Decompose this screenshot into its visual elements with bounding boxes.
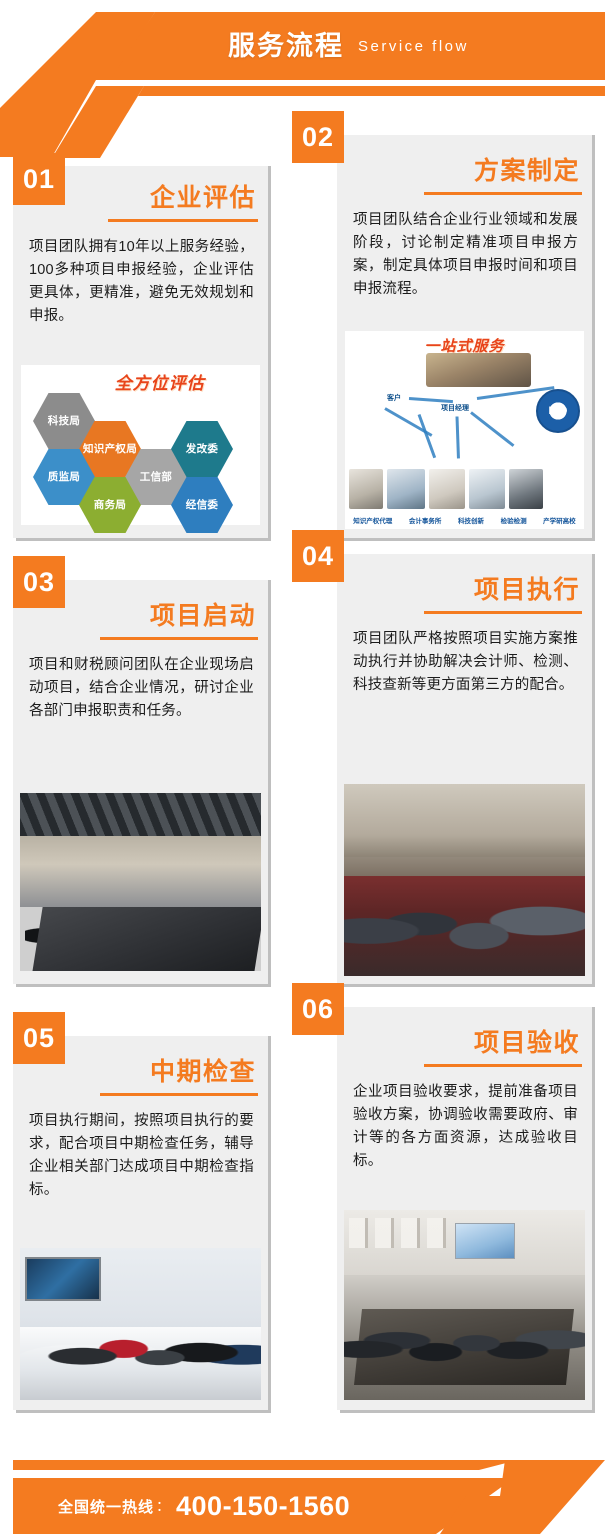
card-05-body: 项目执行期间，按照项目执行的要求，配合项目中期检查任务，辅导企业相关部门达成项目… xyxy=(13,1096,268,1215)
card-02-body: 项目团队结合企业行业领域和发展阶段，讨论制定精准项目申报方案，制定具体项目申报时… xyxy=(337,195,592,314)
card-03-number-badge: 03 xyxy=(13,556,65,608)
card-06-title: 项目验收 xyxy=(337,1029,592,1058)
oss-foot-label: 科技创新 xyxy=(458,515,484,525)
photo-counter xyxy=(20,1345,160,1397)
oss-foot-label: 产学研高校 xyxy=(543,515,576,525)
card-03-body: 项目和财税顾问团队在企业现场启动项目，结合企业情况，研讨企业各部门申报职责和任务… xyxy=(13,640,268,736)
oss-foot-label: 检验检测 xyxy=(501,515,527,525)
card-02-title: 方案制定 xyxy=(337,157,592,186)
card-04-number-badge: 04 xyxy=(292,530,344,582)
photo-table xyxy=(344,908,585,971)
photo-people xyxy=(344,1301,585,1388)
card-02-number-badge: 02 xyxy=(292,111,344,163)
oss-thumb-4 xyxy=(469,469,505,509)
hex-diagram-title: 全方位评估 xyxy=(115,369,205,394)
card-05-number-badge: 05 xyxy=(13,1012,65,1064)
hex-node-label: 经信委 xyxy=(186,499,218,511)
footer-phone-number[interactable]: 400-150-1560 xyxy=(176,1491,350,1522)
oss-arrow-1 xyxy=(409,397,453,403)
showroom-visit-photo xyxy=(20,1248,261,1400)
header-title-group: 服务流程 Service flow xyxy=(0,12,605,80)
page-title: 服务流程 xyxy=(228,33,344,60)
photo-table xyxy=(33,889,261,971)
oss-center-photo xyxy=(426,353,531,387)
hex-node-label: 商务局 xyxy=(94,499,126,511)
oss-thumb-2 xyxy=(387,469,425,509)
card-01[interactable]: 企业评估 项目团队拥有10年以上服务经验，100多种项目申报经验，企业评估更具体… xyxy=(13,166,268,538)
footer-hotline: 全国统一热线 ： 400-150-1560 xyxy=(58,1478,350,1534)
card-06-body: 企业项目验收要求，提前准备项目验收方案，协调验收需要政府、审计等的各方面资源，达… xyxy=(337,1067,592,1186)
hex-node-label: 质监局 xyxy=(48,471,80,483)
oss-arrow-5 xyxy=(470,411,514,447)
oss-foot-label: 会计事务所 xyxy=(409,515,442,525)
oss-manager-label: 项目经理 xyxy=(441,403,469,413)
hex-node-label: 工信部 xyxy=(140,471,172,483)
boardroom-photo xyxy=(344,1210,585,1400)
card-02[interactable]: 方案制定 项目团队结合企业行业领域和发展阶段，讨论制定精准项目申报方案，制定具体… xyxy=(337,135,592,538)
card-03[interactable]: 项目启动 项目和财税顾问团队在企业现场启动项目，结合企业情况，研讨企业各部门申报… xyxy=(13,580,268,984)
card-06[interactable]: 项目验收 企业项目验收要求，提前准备项目验收方案，协调验收需要政府、审计等的各方… xyxy=(337,1007,592,1410)
oss-thumb-3 xyxy=(429,469,465,509)
oss-arrow-4 xyxy=(456,416,460,458)
card-01-body: 项目团队拥有10年以上服务经验，100多种项目申报经验，企业评估更具体，更精准，… xyxy=(13,222,268,341)
page-footer: 全国统一热线 ： 400-150-1560 xyxy=(0,1420,605,1538)
oss-foot-label: 知识产权代理 xyxy=(353,515,392,525)
hex-node-label: 知识产权局 xyxy=(83,443,137,455)
one-stop-service-diagram: 一站式服务 客户 项目经理 ISO 知识产权代理 会计事务所 科技创新 检验检测… xyxy=(345,331,584,529)
photo-projector-screen xyxy=(455,1223,515,1259)
service-flow-infographic: 服务流程 Service flow 企业评估 项目团队拥有10年以上服务经验，1… xyxy=(0,0,605,1538)
footer-hotline-label: 全国统一热线 xyxy=(58,1496,154,1517)
conference-room-photo xyxy=(20,793,261,971)
photo-wall-frames xyxy=(349,1218,450,1248)
card-05[interactable]: 中期检查 项目执行期间，按照项目执行的要求，配合项目中期检查任务，辅导企业相关部… xyxy=(13,1036,268,1410)
card-04-body: 项目团队严格按照项目实施方案推动执行并协助解决会计师、检测、科技查新等更方面第三… xyxy=(337,614,592,710)
oss-client-label: 客户 xyxy=(387,393,401,403)
hex-node-label: 发改委 xyxy=(186,443,218,455)
page-subtitle: Service flow xyxy=(358,38,469,55)
card-06-number-badge: 06 xyxy=(292,983,344,1035)
oss-thumb-5 xyxy=(509,469,543,509)
footer-colon: ： xyxy=(156,1496,170,1516)
card-04[interactable]: 项目执行 项目团队严格按照项目实施方案推动执行并协助解决会计师、检测、科技查新等… xyxy=(337,554,592,984)
hex-node-label: 科技局 xyxy=(48,415,80,427)
oss-arrow-3 xyxy=(418,414,437,458)
card-04-title: 项目执行 xyxy=(337,576,592,605)
oss-iso-badge: ISO xyxy=(536,389,580,433)
card-01-number-badge: 01 xyxy=(13,153,65,205)
laptop-meeting-photo xyxy=(344,784,585,976)
oss-thumb-1 xyxy=(349,469,383,509)
oss-footer-labels: 知识产权代理 会计事务所 科技创新 检验检测 产学研高校 xyxy=(345,515,584,525)
hex-diagram: 全方位评估 科技局 知识产权局 质监局 工信部 商务局 发改委 经信委 xyxy=(21,365,260,525)
